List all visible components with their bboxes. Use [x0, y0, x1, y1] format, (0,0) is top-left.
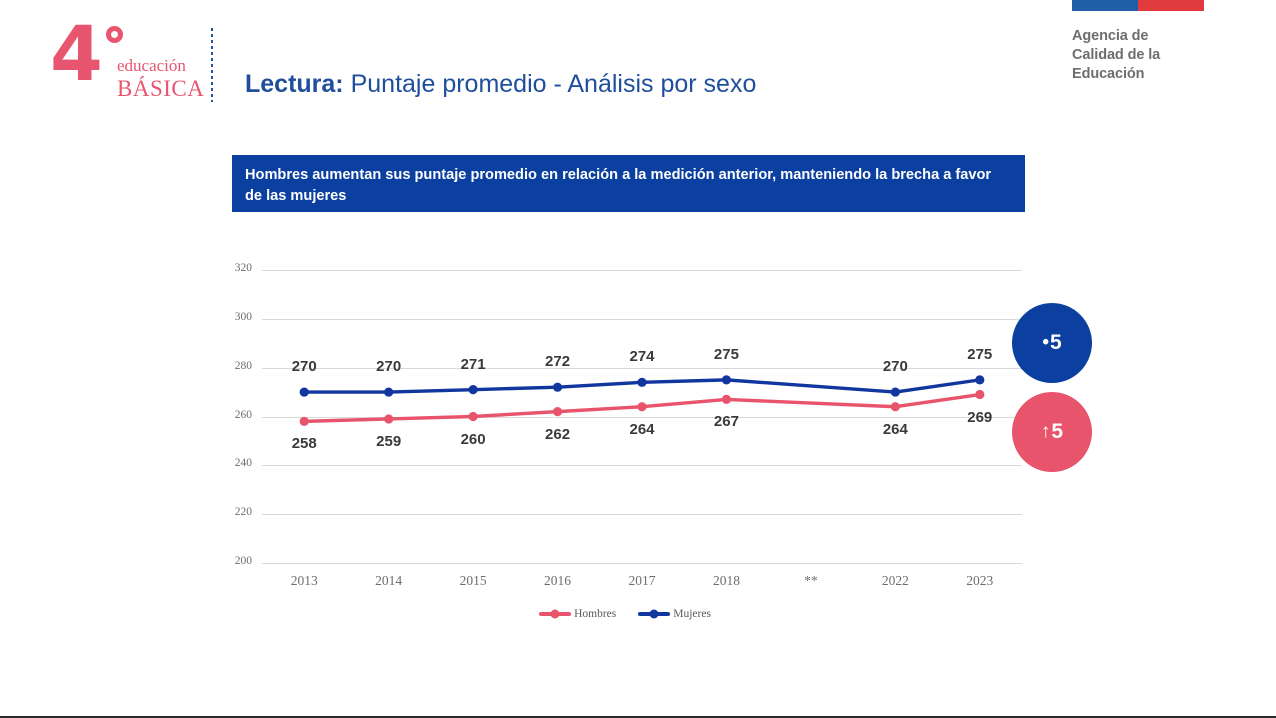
chart-plot	[220, 250, 1030, 570]
header-divider	[211, 28, 213, 102]
data-point	[300, 387, 309, 396]
page-title-detail: Puntaje promedio - Análisis por sexo	[344, 70, 757, 98]
data-label: 275	[714, 346, 739, 363]
data-point	[975, 390, 984, 399]
data-point	[469, 385, 478, 394]
data-point	[384, 414, 393, 423]
data-point	[722, 395, 731, 404]
page-title-subject: Lectura:	[245, 70, 344, 98]
data-point	[469, 412, 478, 421]
data-point	[300, 417, 309, 426]
data-label: 258	[292, 435, 317, 452]
data-label: 270	[883, 358, 908, 375]
data-label: 271	[461, 356, 486, 373]
x-tick-label: 2022	[860, 573, 930, 589]
legend-item-hombres[interactable]: Hombres	[539, 608, 616, 620]
flag-red-stripe	[1138, 0, 1204, 11]
data-point	[553, 407, 562, 416]
data-label: 272	[545, 353, 570, 370]
agency-name: Agencia de Calidad de la Educación	[1072, 27, 1222, 84]
data-point	[637, 402, 646, 411]
data-label: 275	[967, 346, 992, 363]
line-chart: 320300280260240220200 258259260262264267…	[220, 250, 1030, 630]
legend-item-mujeres[interactable]: Mujeres	[638, 608, 711, 620]
data-point	[553, 383, 562, 392]
data-point	[384, 387, 393, 396]
x-tick-label: 2013	[269, 573, 339, 589]
brand-line-educacion: educación	[117, 56, 186, 76]
data-label: 270	[376, 358, 401, 375]
flag-blue-stripe	[1072, 0, 1138, 11]
legend-label: Mujeres	[673, 608, 711, 620]
badge-hombres-symbol-icon: ↑	[1041, 421, 1051, 443]
x-tick-label: 2017	[607, 573, 677, 589]
data-point	[722, 375, 731, 384]
chile-flag-icon	[1072, 0, 1204, 11]
x-tick-label: 2023	[945, 573, 1015, 589]
data-point	[975, 375, 984, 384]
badge-mujeres: •5	[1012, 303, 1092, 383]
legend-label: Hombres	[574, 608, 616, 620]
data-label: 262	[545, 426, 570, 443]
badge-mujeres-value: 5	[1050, 331, 1062, 355]
legend-swatch-icon	[638, 612, 670, 616]
data-label: 269	[967, 409, 992, 426]
x-tick-label: 2014	[354, 573, 424, 589]
x-tick-label: 2016	[523, 573, 593, 589]
x-tick-label: 2018	[691, 573, 761, 589]
page-title: Lectura: Puntaje promedio - Análisis por…	[245, 70, 756, 99]
chart-legend: HombresMujeres	[220, 608, 1030, 620]
badge-hombres-value: 5	[1051, 420, 1063, 444]
brand-logo: 4 educación BÁSICA	[50, 22, 210, 102]
x-tick-label: 2015	[438, 573, 508, 589]
data-label: 267	[714, 413, 739, 430]
data-label: 270	[292, 358, 317, 375]
data-label: 264	[629, 421, 654, 438]
data-label: 264	[883, 421, 908, 438]
data-point	[637, 378, 646, 387]
data-label: 274	[629, 348, 654, 365]
badge-mujeres-symbol-icon: •	[1042, 332, 1049, 354]
brand-line-basica: BÁSICA	[117, 76, 204, 102]
degree-symbol-icon	[106, 26, 123, 43]
data-label: 259	[376, 433, 401, 450]
brand-number: 4	[50, 16, 100, 92]
x-tick-label: **	[776, 573, 846, 589]
data-point	[891, 387, 900, 396]
data-label: 260	[461, 431, 486, 448]
data-point	[891, 402, 900, 411]
agency-logo: Agencia de Calidad de la Educación	[1072, 0, 1222, 84]
badge-hombres: ↑5	[1012, 392, 1092, 472]
legend-swatch-icon	[539, 612, 571, 616]
callout-banner: Hombres aumentan sus puntaje promedio en…	[232, 155, 1025, 212]
